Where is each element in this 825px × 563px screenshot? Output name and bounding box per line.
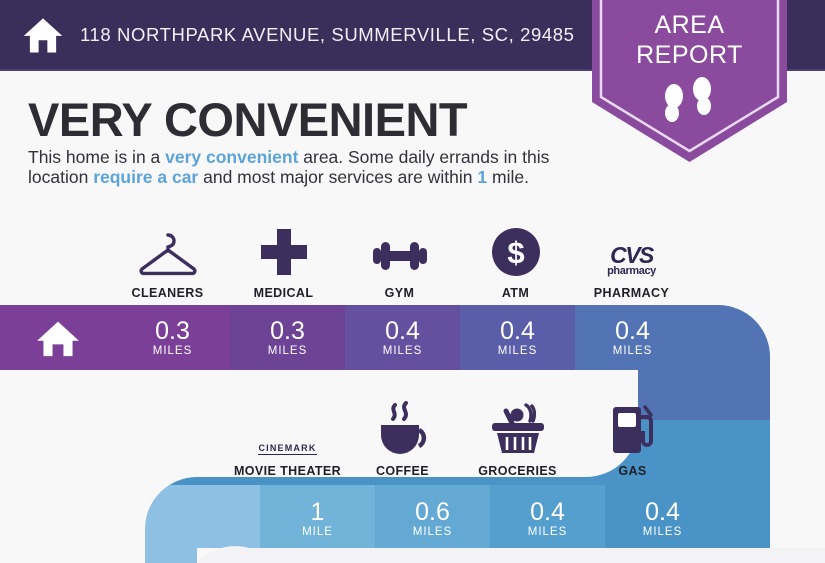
distance-unit: MILES (643, 526, 683, 538)
distance-cell-movie-theater: 1 MILE (260, 486, 375, 551)
distance-value: 1 (311, 499, 325, 525)
dumbbell-icon (369, 227, 431, 277)
gas-pump-icon (607, 405, 659, 455)
category-cleaners: CLEANERS (110, 218, 225, 300)
category-label: CLEANERS (132, 286, 204, 300)
category-label: GROCERIES (478, 464, 557, 478)
home-marker (0, 305, 115, 370)
distance-cell-groceries: 0.4 MILES (490, 486, 605, 551)
distance-value: 0.3 (270, 318, 305, 344)
distance-cell-coffee: 0.6 MILES (375, 486, 490, 551)
distance-unit: MILES (383, 345, 423, 357)
category-label: MEDICAL (254, 286, 314, 300)
cvs-subtext: pharmacy (607, 266, 656, 277)
category-label: ATM (502, 286, 529, 300)
distance-unit: MILES (413, 526, 453, 538)
home-icon (36, 318, 80, 358)
cvs-pharmacy-logo: CVS pharmacy (607, 227, 656, 277)
distance-unit: MILES (153, 345, 193, 357)
hanger-icon (137, 227, 199, 277)
svg-text:$: $ (507, 235, 524, 270)
distance-value: 0.4 (645, 499, 680, 525)
distance-unit: MILES (268, 345, 308, 357)
distance-unit: MILES (498, 345, 538, 357)
distance-value: 0.4 (500, 318, 535, 344)
category-label: PHARMACY (594, 286, 669, 300)
distance-cell-gym: 0.4 MILES (345, 305, 460, 370)
area-report-badge: AREA REPORT (592, 0, 787, 162)
category-label: MOVIE THEATER (234, 464, 341, 478)
badge-line2: REPORT (592, 40, 787, 70)
distance-unit: MILES (528, 526, 568, 538)
distance-cell-atm: 0.4 MILES (460, 305, 575, 370)
category-label: COFFEE (376, 464, 429, 478)
category-atm: $ ATM (458, 218, 573, 300)
row1-category-icons: CLEANERS MEDICAL GYM (0, 218, 825, 300)
distance-unit: MILE (302, 526, 333, 538)
distance-cell-cleaners: 0.3 MILES (115, 305, 230, 370)
cinemark-logo: CINEMARK (258, 405, 316, 455)
category-medical: MEDICAL (226, 218, 341, 300)
category-groceries: GROCERIES (460, 396, 575, 478)
category-gym: GYM (342, 218, 457, 300)
distance-value: 0.6 (415, 499, 450, 525)
distance-cell-gas: 0.4 MILES (605, 486, 720, 551)
category-label: GAS (618, 464, 646, 478)
category-gas: GAS (575, 396, 690, 478)
distance-unit: MILES (613, 345, 653, 357)
distance-cell-medical: 0.3 MILES (230, 305, 345, 370)
category-pharmacy: CVS pharmacy PHARMACY (574, 218, 689, 300)
category-label: GYM (385, 286, 415, 300)
category-coffee: COFFEE (345, 396, 460, 478)
distance-cell-pharmacy: 0.4 MILES (575, 305, 690, 370)
dollar-circle-icon: $ (491, 227, 541, 277)
cvs-wordmark: CVS (607, 244, 656, 267)
distance-value: 0.3 (155, 318, 190, 344)
cinemark-wordmark: CINEMARK (258, 443, 316, 455)
category-movie-theater: CINEMARK MOVIE THEATER (230, 396, 345, 478)
distance-value: 0.4 (615, 318, 650, 344)
medical-cross-icon (259, 227, 309, 277)
grocery-basket-icon (488, 405, 548, 455)
distance-value: 0.4 (385, 318, 420, 344)
area-report-page: 118 NORTHPARK AVENUE, SUMMERVILLE, SC, 2… (0, 0, 825, 563)
coffee-cup-icon (375, 405, 431, 455)
row2-category-icons: CINEMARK MOVIE THEATER COFFEE (145, 396, 825, 476)
distance-value: 0.4 (530, 499, 565, 525)
badge-line1: AREA (592, 10, 787, 40)
badge-label: AREA REPORT (592, 10, 787, 70)
